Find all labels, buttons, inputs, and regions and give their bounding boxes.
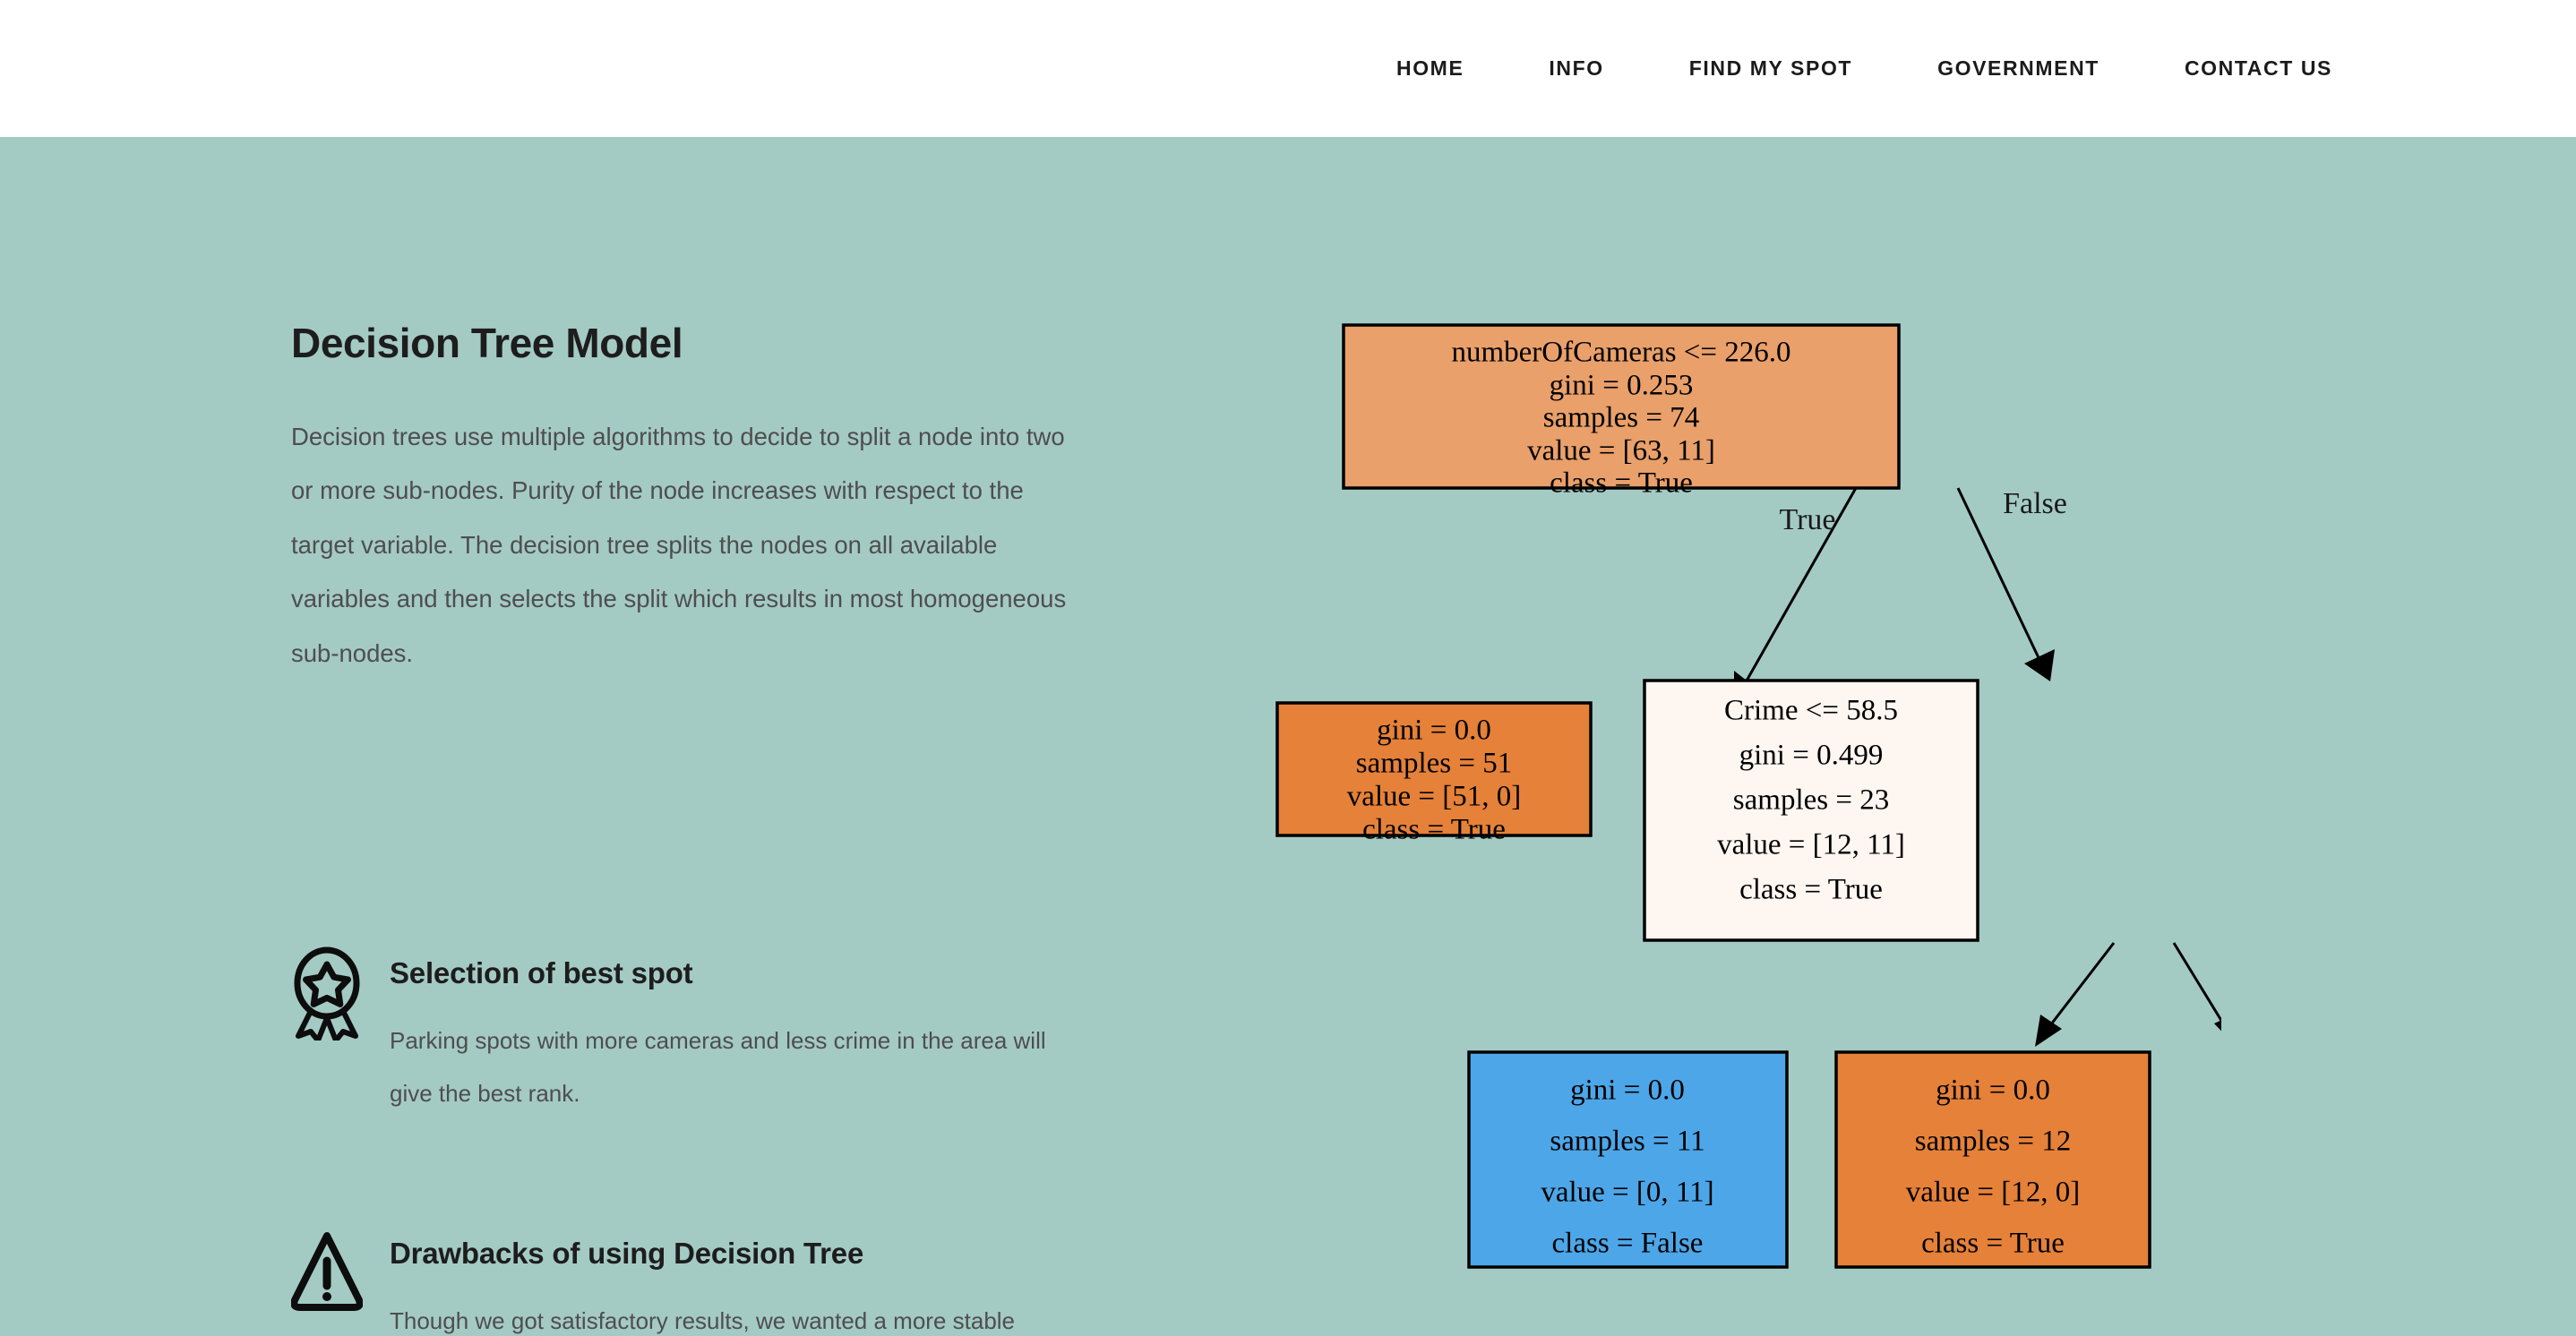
edge-node-crime-to-leaf-true <box>2174 943 2221 1031</box>
tree-node-leaf-true[interactable]: gini = 0.0 samples = 12 value = [12, 0] … <box>1836 1052 2150 1267</box>
node-line: samples = 11 <box>1550 1126 1704 1158</box>
feature-text-block: Selection of best spot Parking spots wit… <box>390 943 1070 1120</box>
feature-text-block: Drawbacks of using Decision Tree Though … <box>390 1223 1070 1336</box>
nav-item-find-my-spot[interactable]: FIND MY SPOT <box>1689 47 1852 90</box>
node-line: gini = 0.0 <box>1936 1075 2050 1107</box>
feature-description: Parking spots with more cameras and less… <box>390 1015 1070 1120</box>
page-title: Decision Tree Model <box>291 320 1102 367</box>
node-line: Crime <= 58.5 <box>1724 695 1898 727</box>
nav-item-info[interactable]: INFO <box>1549 47 1603 90</box>
node-line: class = True <box>1550 467 1693 500</box>
feature-title: Selection of best spot <box>390 955 1070 991</box>
node-line: samples = 51 <box>1356 748 1512 780</box>
arrow-head <box>2024 649 2055 681</box>
warning-triangle-icon <box>291 1223 363 1317</box>
node-line: class = True <box>1739 874 1883 906</box>
feature-title: Drawbacks of using Decision Tree <box>390 1236 1070 1272</box>
tree-node-leaf-false[interactable]: gini = 0.0 samples = 11 value = [0, 11] … <box>1469 1052 1787 1267</box>
node-line: value = [12, 0] <box>1906 1177 2081 1209</box>
node-line: gini = 0.499 <box>1739 740 1884 772</box>
site-header: HOME INFO FIND MY SPOT GOVERNMENT CONTAC… <box>0 0 2576 137</box>
feature-description: Though we got satisfactory results, we w… <box>390 1295 1070 1336</box>
page-body: Decision Tree Model Decision trees use m… <box>0 137 2576 1336</box>
feature-item-drawbacks-of-using-decision-tree: Drawbacks of using Decision Tree Though … <box>291 1223 1097 1336</box>
node-line: samples = 23 <box>1733 784 1889 817</box>
nav-item-government[interactable]: GOVERNMENT <box>1937 47 2099 90</box>
node-line: class = False <box>1552 1228 1704 1260</box>
tree-node-leaf-left[interactable]: gini = 0.0 samples = 51 value = [51, 0] … <box>1277 703 1591 846</box>
nav-item-contact-us[interactable]: CONTACT US <box>2185 47 2332 90</box>
node-line: value = [51, 0] <box>1347 781 1522 813</box>
feature-item-selection-of-best-spot: Selection of best spot Parking spots wit… <box>291 943 1097 1120</box>
edge-label-true: True <box>1780 503 1836 536</box>
node-line: gini = 0.0 <box>1570 1075 1685 1107</box>
node-line: class = True <box>1921 1228 2065 1260</box>
award-badge-icon <box>291 943 363 1037</box>
tree-node-root[interactable]: numberOfCameras <= 226.0 gini = 0.253 sa… <box>1344 325 1899 500</box>
node-line: samples = 12 <box>1915 1126 2071 1158</box>
nav-item-home[interactable]: HOME <box>1396 47 1464 90</box>
decision-tree-section: Decision Tree Model Decision trees use m… <box>291 320 1102 681</box>
node-line: class = True <box>1362 814 1506 846</box>
node-line: value = [0, 11] <box>1541 1177 1713 1209</box>
section-paragraph: Decision trees use multiple algorithms t… <box>291 410 1093 681</box>
edge-node-crime-to-leaf-false <box>2045 943 2114 1032</box>
node-line: value = [12, 11] <box>1717 829 1905 861</box>
decision-tree-diagram: True False numberOfCameras <= 226.0 gini… <box>1254 307 2221 1336</box>
node-line: samples = 74 <box>1543 402 1699 434</box>
node-line: gini = 0.0 <box>1377 715 1491 747</box>
tree-node-crime[interactable]: Crime <= 58.5 gini = 0.499 samples = 23 … <box>1644 681 1978 940</box>
node-line: value = [63, 11] <box>1527 435 1715 467</box>
edge-label-false: False <box>2003 487 2067 520</box>
node-line: gini = 0.253 <box>1550 370 1694 402</box>
main-navigation: HOME INFO FIND MY SPOT GOVERNMENT CONTAC… <box>1396 47 2576 90</box>
node-line: numberOfCameras <= 226.0 <box>1451 337 1790 369</box>
arrow-head <box>2035 1015 2062 1047</box>
